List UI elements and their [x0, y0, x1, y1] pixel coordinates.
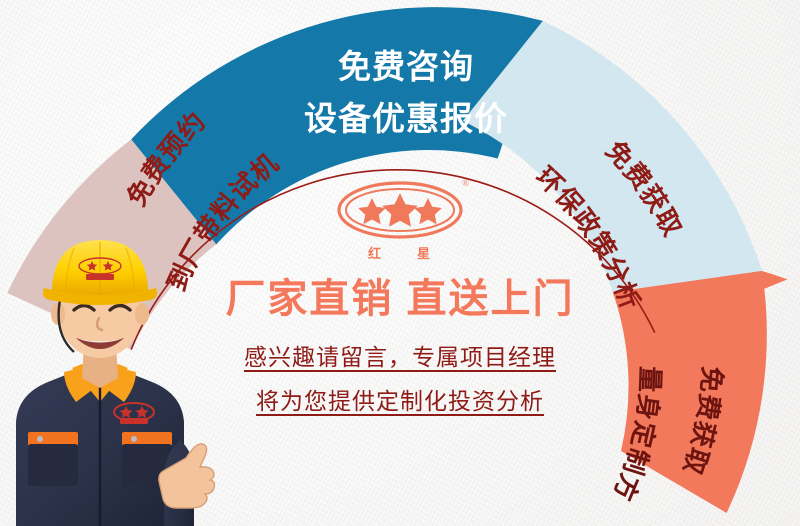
worker-ear-right	[135, 303, 149, 325]
segment-2-line1: 免费咨询	[338, 48, 474, 85]
segment-2-line2: 设备优惠报价	[304, 100, 508, 137]
worker-pocket-left	[28, 444, 78, 486]
worker-pocket-flap-right	[122, 432, 172, 446]
worker-pocket-button-right	[131, 436, 137, 442]
smiling-worker-thumbs-up	[0, 226, 224, 526]
worker-pocket-button-left	[37, 436, 43, 442]
worker-pocket-flap-left	[28, 432, 78, 446]
promo-banner: 免费预约 到厂带料试机 免费获取 环保政策分析 免费获取 量身定制方案 免费咨询…	[0, 0, 800, 526]
